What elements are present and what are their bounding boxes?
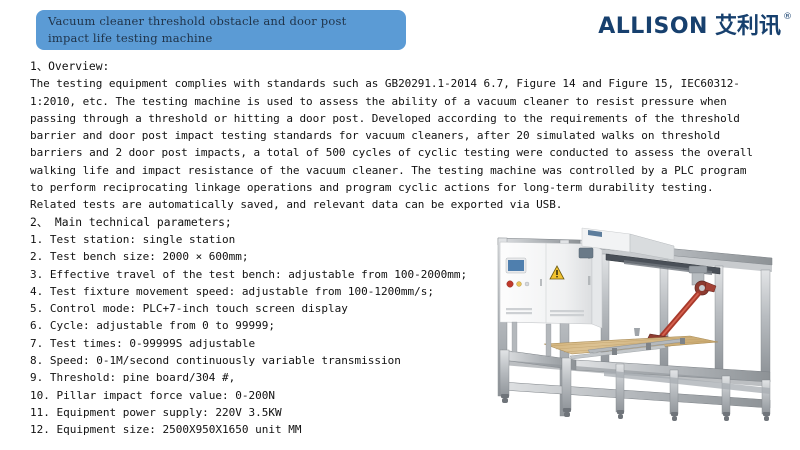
product-photo bbox=[484, 224, 796, 446]
overview-heading: 1、Overview: bbox=[30, 58, 782, 75]
overview-line: Related tests are automatically saved, a… bbox=[30, 196, 782, 213]
overview-line: barrier and door post impact testing sta… bbox=[30, 127, 782, 144]
testing-machine-illustration bbox=[484, 224, 796, 446]
logo-text-cn: 艾利讯 bbox=[715, 14, 781, 40]
allison-logo: ALLISON 艾利讯 ® bbox=[598, 14, 792, 40]
registered-trademark-icon: ® bbox=[783, 12, 792, 22]
title-banner: Vacuum cleaner threshold obstacle and do… bbox=[36, 10, 406, 50]
overview-line: 1:2010, etc. The testing machine is used… bbox=[30, 93, 782, 110]
overview-line: to perform reciprocating linkage operati… bbox=[30, 179, 782, 196]
overview-paragraph: The testing equipment complies with stan… bbox=[30, 75, 782, 213]
page-title-line-1: Vacuum cleaner threshold obstacle and do… bbox=[48, 13, 406, 30]
overview-line: barriers and 2 door post impacts, a tota… bbox=[30, 144, 782, 161]
overview-line: passing through a threshold or hitting a… bbox=[30, 110, 782, 127]
page-header: Vacuum cleaner threshold obstacle and do… bbox=[0, 0, 800, 58]
overview-line: The testing equipment complies with stan… bbox=[30, 75, 782, 92]
product-spec-page: Vacuum cleaner threshold obstacle and do… bbox=[0, 0, 800, 450]
overview-line: walking life and impact resistance of th… bbox=[30, 162, 782, 179]
page-title-line-2: impact life testing machine bbox=[48, 30, 406, 47]
logo-text-en: ALLISON bbox=[598, 14, 708, 40]
